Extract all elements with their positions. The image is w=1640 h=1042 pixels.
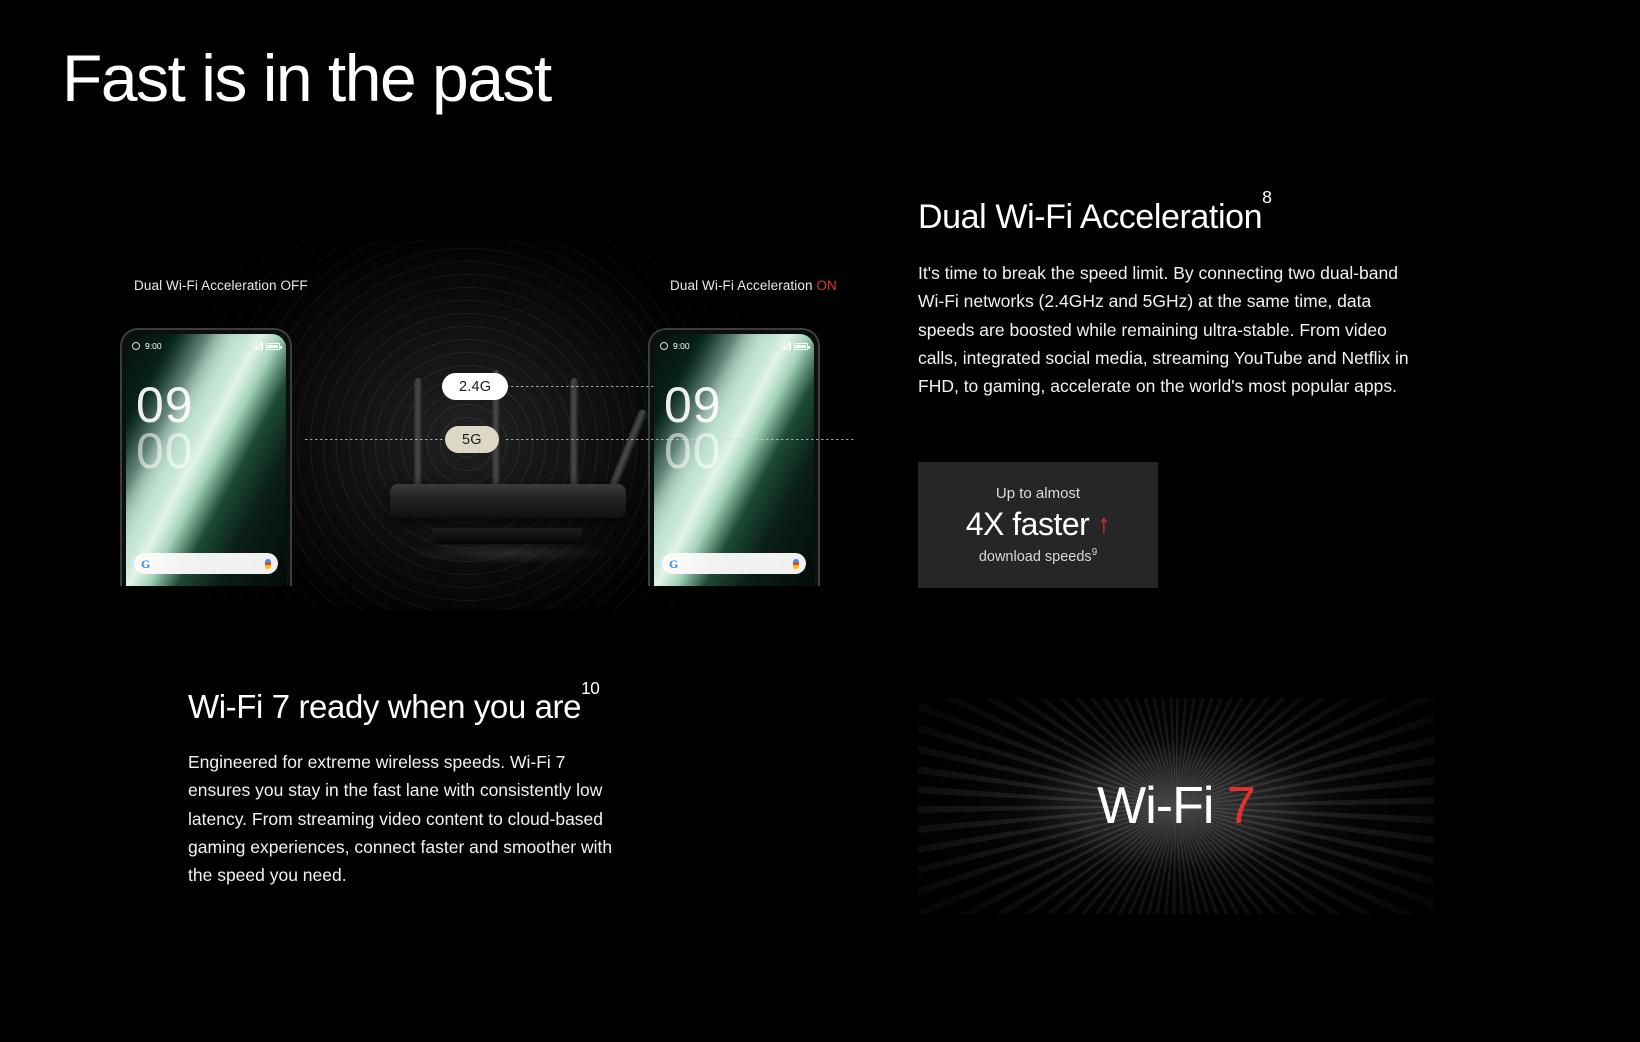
caption-on-state: ON (816, 278, 836, 293)
stat-bottom-text: download speeds (979, 549, 1092, 565)
footnote-marker: 9 (1092, 547, 1097, 558)
badge-24g: 2.4G (442, 373, 508, 400)
footnote-marker: 8 (1262, 187, 1271, 207)
dual-wifi-section: Dual Wi-Fi Acceleration8 It's time to br… (918, 198, 1418, 401)
caption-acceleration-off: Dual Wi-Fi Acceleration OFF (134, 278, 308, 293)
status-time: 9:00 (145, 341, 162, 351)
clock-hour: 09 (664, 382, 722, 428)
banner-label-text: Wi-Fi (1097, 777, 1227, 835)
wifi7-title-text: Wi-Fi 7 ready when you are (188, 688, 581, 725)
dual-wifi-title-text: Dual Wi-Fi Acceleration (918, 198, 1262, 236)
circle-icon (660, 342, 668, 350)
wifi7-body: Engineered for extreme wireless speeds. … (188, 748, 618, 890)
connection-line (305, 439, 445, 440)
router-shadow (406, 542, 612, 564)
stat-card-download-speed: Up to almost 4X faster ↑ download speeds… (918, 462, 1158, 588)
banner-number: 7 (1227, 777, 1255, 835)
router-base (432, 528, 582, 544)
stat-top-label: Up to almost (996, 485, 1080, 502)
phone-right-status-bar: 9:00 (660, 341, 808, 351)
wifi-icon (242, 343, 251, 350)
router-body (390, 484, 626, 518)
router-graphic (380, 340, 640, 580)
stat-value-row: 4X faster ↑ (966, 506, 1111, 543)
page-root: Fast is in the past Dual Wi-Fi Accelerat… (0, 0, 1640, 1042)
clock-hour: 09 (136, 382, 194, 428)
status-icons (770, 342, 808, 350)
battery-icon (794, 343, 808, 350)
caption-acceleration-on: Dual Wi-Fi Acceleration ON (670, 278, 837, 293)
stat-value: 4X faster (966, 506, 1090, 543)
connection-line (506, 386, 654, 387)
footnote-marker: 10 (581, 678, 599, 698)
badge-5g: 5G (445, 426, 499, 453)
phone-right-clock: 09 00 (664, 382, 722, 474)
wifi7-section: Wi-Fi 7 ready when you are10 Engineered … (188, 688, 658, 890)
battery-icon (266, 343, 280, 350)
microphone-icon[interactable] (265, 559, 271, 569)
stat-bottom-label: download speeds9 (979, 547, 1097, 565)
caption-on-prefix: Dual Wi-Fi Acceleration (670, 278, 816, 293)
wifi7-title: Wi-Fi 7 ready when you are10 (188, 688, 658, 726)
google-logo-icon: G (669, 558, 678, 570)
clock-minute: 00 (136, 428, 194, 474)
phone-left: 9:00 09 00 G (120, 328, 292, 586)
phone-right: 9:00 09 00 G (648, 328, 820, 586)
clock-minute: 00 (664, 428, 722, 474)
wifi-icon (770, 343, 779, 350)
microphone-icon[interactable] (793, 559, 799, 569)
page-title: Fast is in the past (62, 42, 551, 115)
router-antenna (570, 378, 579, 488)
phone-left-search-bar[interactable]: G (134, 553, 278, 574)
dual-wifi-body: It's time to break the speed limit. By c… (918, 259, 1413, 401)
circle-icon (132, 342, 140, 350)
phone-right-search-bar[interactable]: G (662, 553, 806, 574)
status-icons (242, 342, 280, 350)
banner-label: Wi-Fi 7 (918, 776, 1434, 836)
arrow-up-icon: ↑ (1097, 511, 1110, 538)
signal-bars-icon (782, 342, 791, 350)
google-logo-icon: G (141, 558, 150, 570)
signal-bars-icon (254, 342, 263, 350)
router-antenna (414, 378, 423, 488)
phone-left-clock: 09 00 (136, 382, 194, 474)
dual-wifi-title: Dual Wi-Fi Acceleration8 (918, 198, 1418, 237)
phone-left-status-bar: 9:00 (132, 341, 280, 351)
status-time: 9:00 (673, 341, 690, 351)
wifi7-banner: Wi-Fi 7 (918, 698, 1434, 914)
dual-wifi-illustration: Dual Wi-Fi Acceleration OFF Dual Wi-Fi A… (62, 240, 872, 610)
